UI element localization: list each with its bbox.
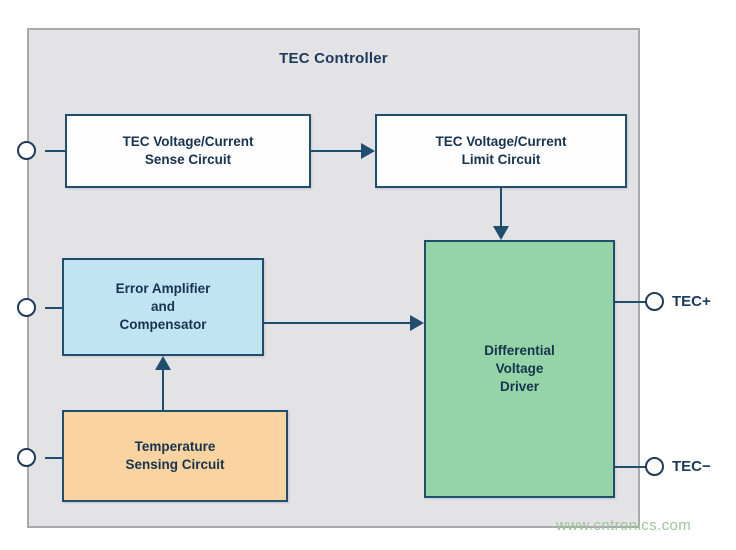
temp-sense-line-1: Temperature: [135, 439, 216, 454]
block-diagram-canvas: TEC Controller TEC Voltage/Current Sense…: [0, 0, 736, 550]
block-label-differential-voltage-driver: Differential Voltage Driver: [478, 342, 561, 395]
arrowhead-limit-to-driver: [493, 226, 509, 240]
connector-input1-to-sense: [45, 150, 65, 152]
sense-line-2: Sense Circuit: [145, 152, 231, 167]
error-amp-line-1: Error Amplifier: [116, 281, 211, 296]
block-label-error-amplifier: Error Amplifier and Compensator: [110, 280, 217, 333]
terminal-tec-minus[interactable]: [645, 457, 664, 476]
connector-input2-to-error-amp: [45, 307, 62, 309]
connector-input3-to-temp-sense: [45, 457, 62, 459]
sense-line-1: TEC Voltage/Current: [122, 134, 253, 149]
pin-label-tec-plus: TEC+: [672, 293, 711, 310]
connector-error-amp-to-driver: [264, 322, 410, 324]
connector-limit-to-driver: [500, 188, 502, 226]
limit-line-2: Limit Circuit: [462, 152, 541, 167]
terminal-input-1[interactable]: [17, 141, 36, 160]
watermark-text: www.cntronics.com: [556, 517, 691, 534]
block-label-limit: TEC Voltage/Current Limit Circuit: [429, 133, 572, 169]
block-temperature-sensing-circuit[interactable]: Temperature Sensing Circuit: [62, 410, 288, 502]
terminal-input-3[interactable]: [17, 448, 36, 467]
block-label-sense: TEC Voltage/Current Sense Circuit: [116, 133, 259, 169]
connector-sense-to-limit: [311, 150, 361, 152]
block-tec-voltage-current-limit-circuit[interactable]: TEC Voltage/Current Limit Circuit: [375, 114, 627, 188]
block-differential-voltage-driver[interactable]: Differential Voltage Driver: [424, 240, 615, 498]
connector-temp-sense-to-error-amp: [162, 370, 164, 410]
error-amp-line-2: and: [151, 299, 175, 314]
driver-line-3: Driver: [500, 379, 539, 394]
arrowhead-error-amp-to-driver: [410, 315, 424, 331]
page-title: TEC Controller: [27, 50, 640, 67]
terminal-input-2[interactable]: [17, 298, 36, 317]
error-amp-line-3: Compensator: [119, 317, 206, 332]
pin-label-tec-minus: TEC−: [672, 458, 711, 475]
limit-line-1: TEC Voltage/Current: [435, 134, 566, 149]
driver-line-2: Voltage: [496, 361, 544, 376]
arrowhead-temp-sense-to-error-amp: [155, 356, 171, 370]
arrowhead-sense-to-limit: [361, 143, 375, 159]
block-error-amplifier-and-compensator[interactable]: Error Amplifier and Compensator: [62, 258, 264, 356]
connector-driver-to-tec-minus: [615, 466, 648, 468]
connector-driver-to-tec-plus: [615, 301, 648, 303]
driver-line-1: Differential: [484, 343, 555, 358]
temp-sense-line-2: Sensing Circuit: [125, 457, 224, 472]
block-label-temperature-sensing: Temperature Sensing Circuit: [119, 438, 230, 474]
block-tec-voltage-current-sense-circuit[interactable]: TEC Voltage/Current Sense Circuit: [65, 114, 311, 188]
terminal-tec-plus[interactable]: [645, 292, 664, 311]
